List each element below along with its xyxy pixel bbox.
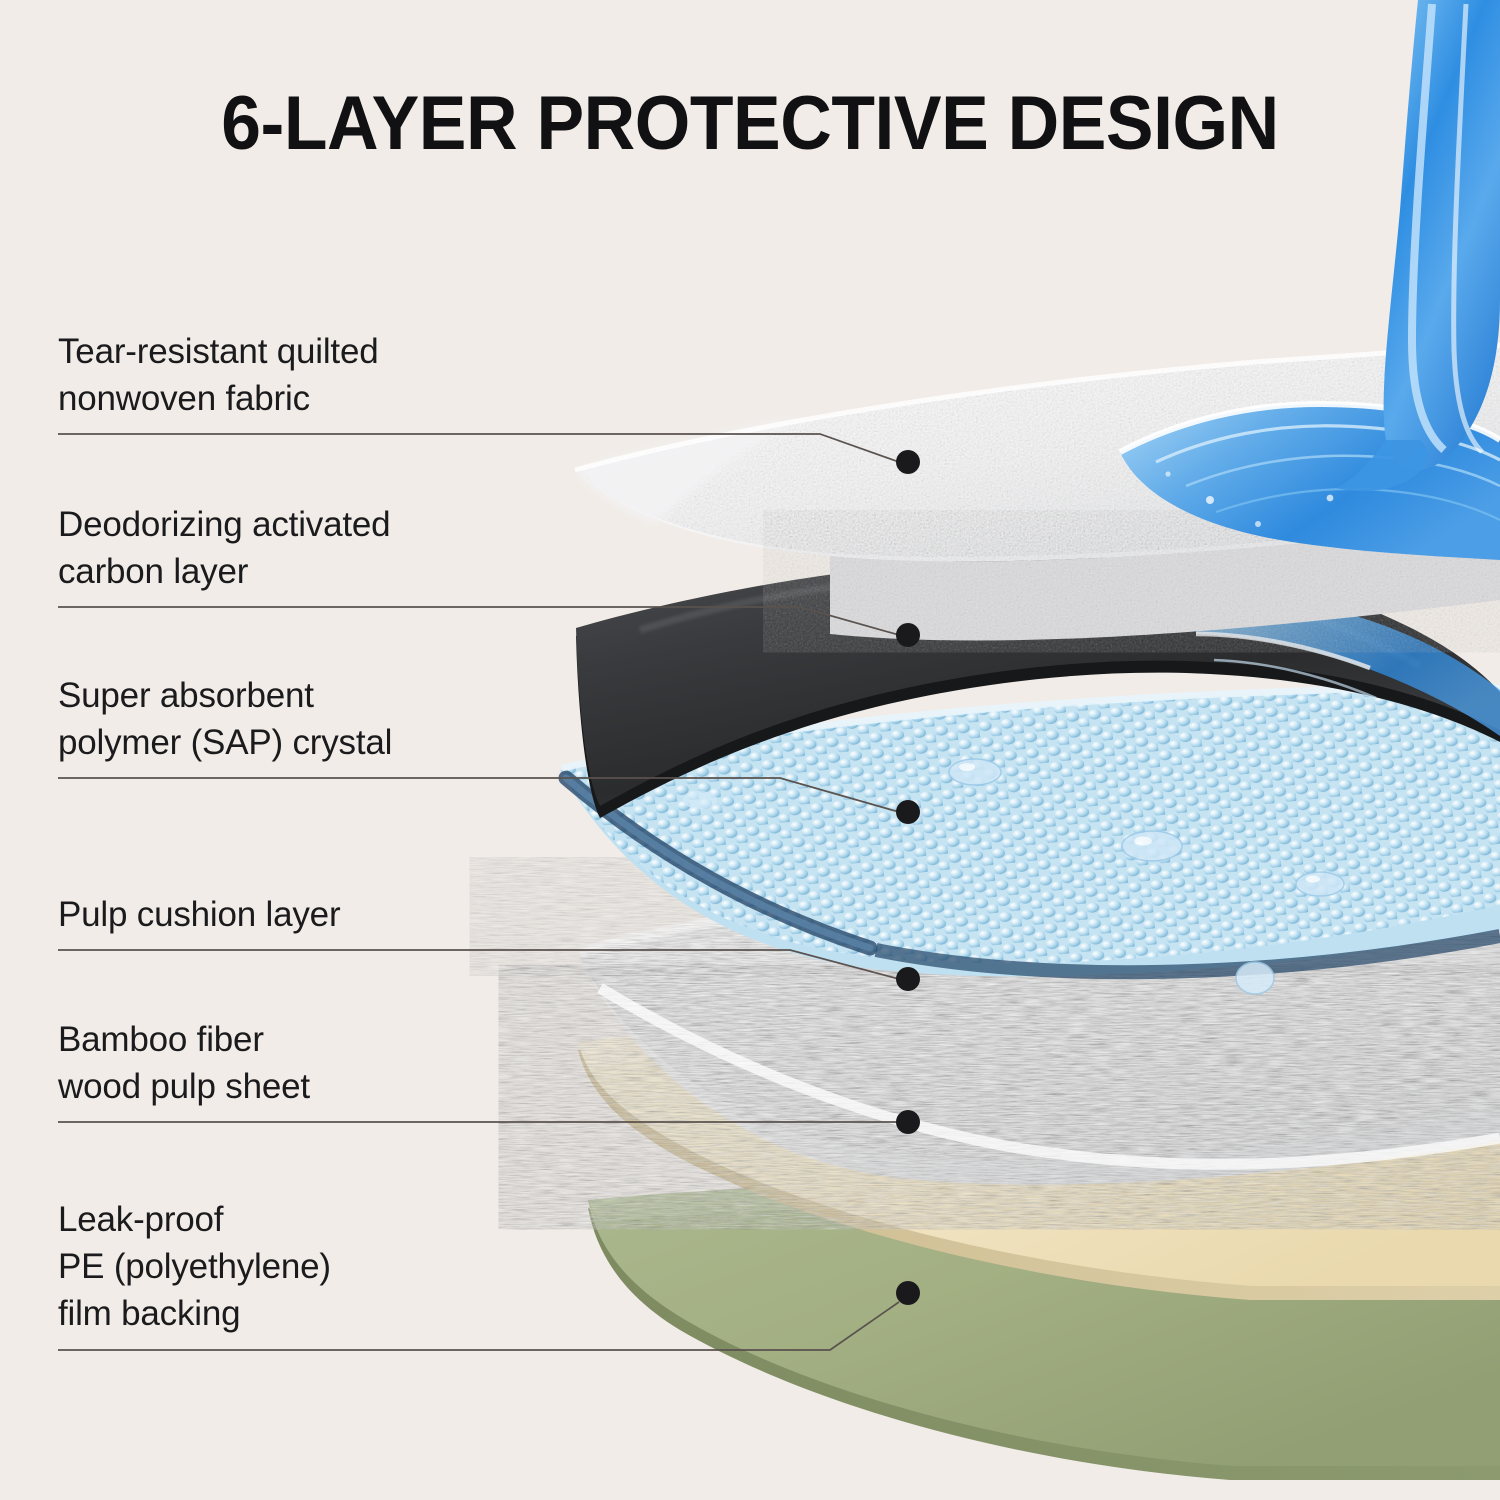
layer-label-3: Super absorbent polymer (SAP) crystal	[58, 672, 528, 766]
callout-dot-5	[896, 1110, 920, 1134]
layer-label-6: Leak-proof PE (polyethylene) film backin…	[58, 1196, 528, 1337]
activated-carbon-layer	[576, 557, 1500, 818]
layer-callout-3: Super absorbent polymer (SAP) crystal	[58, 672, 528, 766]
callout-dot-2	[896, 623, 920, 647]
layer-callout-2: Deodorizing activated carbon layer	[58, 501, 528, 595]
layer-label-5: Bamboo fiber wood pulp sheet	[58, 1016, 528, 1110]
layer-label-1: Tear-resistant quilted nonwoven fabric	[58, 328, 528, 422]
page-title: 6-LAYER PROTECTIVE DESIGN	[45, 86, 1455, 162]
callout-dot-6	[896, 1281, 920, 1305]
pe-film-backing-layer	[588, 1175, 1500, 1480]
callout-leader-3	[58, 778, 920, 824]
callout-leader-4	[58, 950, 920, 991]
callout-leader-2	[58, 607, 920, 647]
callout-leader-1	[58, 434, 920, 474]
layer-label-2: Deodorizing activated carbon layer	[58, 501, 528, 595]
layer-label-4: Pulp cushion layer	[58, 891, 528, 938]
callout-dot-3	[896, 800, 920, 824]
bamboo-pulp-sheet-layer	[578, 1004, 1500, 1300]
layer-callout-4: Pulp cushion layer	[58, 891, 528, 938]
callout-leader-5	[58, 1110, 920, 1134]
callout-dot-4	[896, 967, 920, 991]
layer-callout-1: Tear-resistant quilted nonwoven fabric	[58, 328, 528, 422]
nonwoven-fabric-layer	[560, 330, 1500, 641]
layer-callout-5: Bamboo fiber wood pulp sheet	[58, 1016, 528, 1110]
callout-dot-1	[896, 450, 920, 474]
sap-crystal-layer	[399, 531, 1500, 1089]
pulp-cushion-layer	[560, 860, 1500, 1190]
infographic-canvas: 6-LAYER PROTECTIVE DESIGN Tear-resistant…	[0, 0, 1500, 1500]
layer-callout-6: Leak-proof PE (polyethylene) film backin…	[58, 1196, 528, 1337]
